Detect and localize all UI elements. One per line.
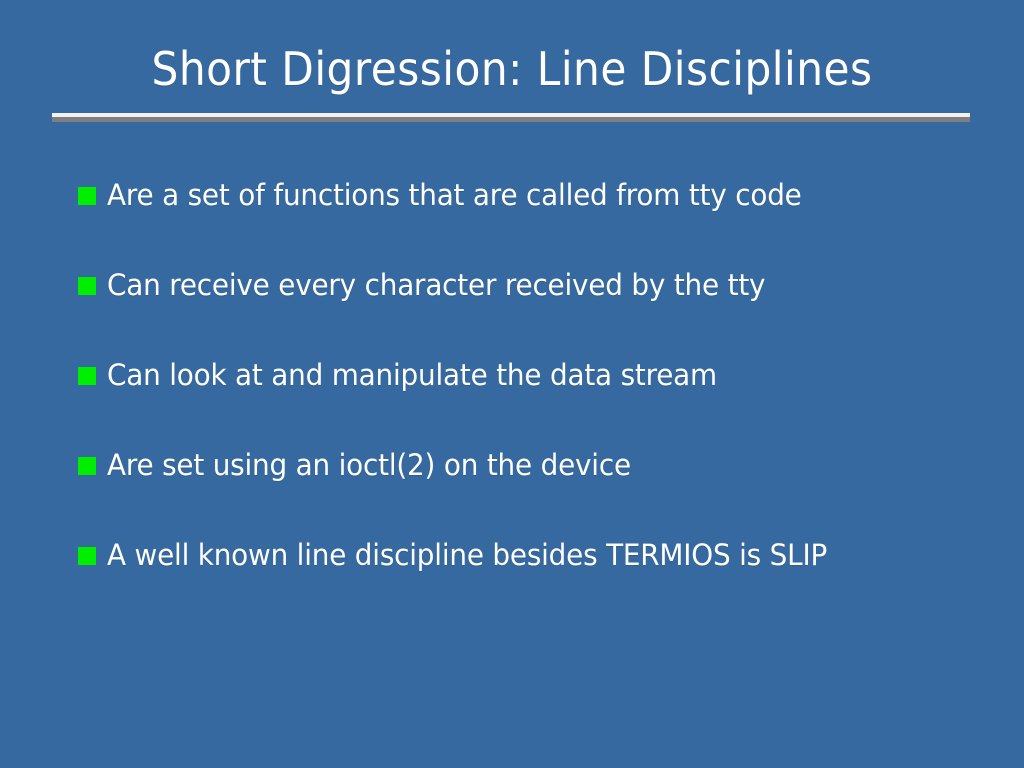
square-bullet-icon: [78, 277, 96, 295]
presentation-slide: Short Digression: Line Disciplines Are a…: [0, 0, 1024, 768]
list-item-label: Can look at and manipulate the data stre…: [107, 352, 962, 398]
list-item: Are set using an ioctl(2) on the device: [78, 442, 998, 532]
list-item: Are a set of functions that are called f…: [78, 172, 998, 262]
title-divider-shadow: [52, 117, 970, 122]
square-bullet-icon: [78, 547, 96, 565]
title-divider: [52, 113, 970, 122]
bullet-list: Are a set of functions that are called f…: [78, 172, 998, 622]
slide-title-area: Short Digression: Line Disciplines: [0, 40, 1024, 98]
list-item-label: A well known line discipline besides TER…: [107, 532, 962, 578]
list-item-label: Can receive every character received by …: [107, 262, 962, 308]
square-bullet-icon: [78, 187, 96, 205]
list-item: Can look at and manipulate the data stre…: [78, 352, 998, 442]
square-bullet-icon: [78, 457, 96, 475]
list-item-label: Are set using an ioctl(2) on the device: [107, 442, 962, 488]
list-item: A well known line discipline besides TER…: [78, 532, 998, 622]
square-bullet-icon: [78, 367, 96, 385]
page-title: Short Digression: Line Disciplines: [41, 40, 983, 98]
list-item: Can receive every character received by …: [78, 262, 998, 352]
list-item-label: Are a set of functions that are called f…: [107, 172, 962, 218]
